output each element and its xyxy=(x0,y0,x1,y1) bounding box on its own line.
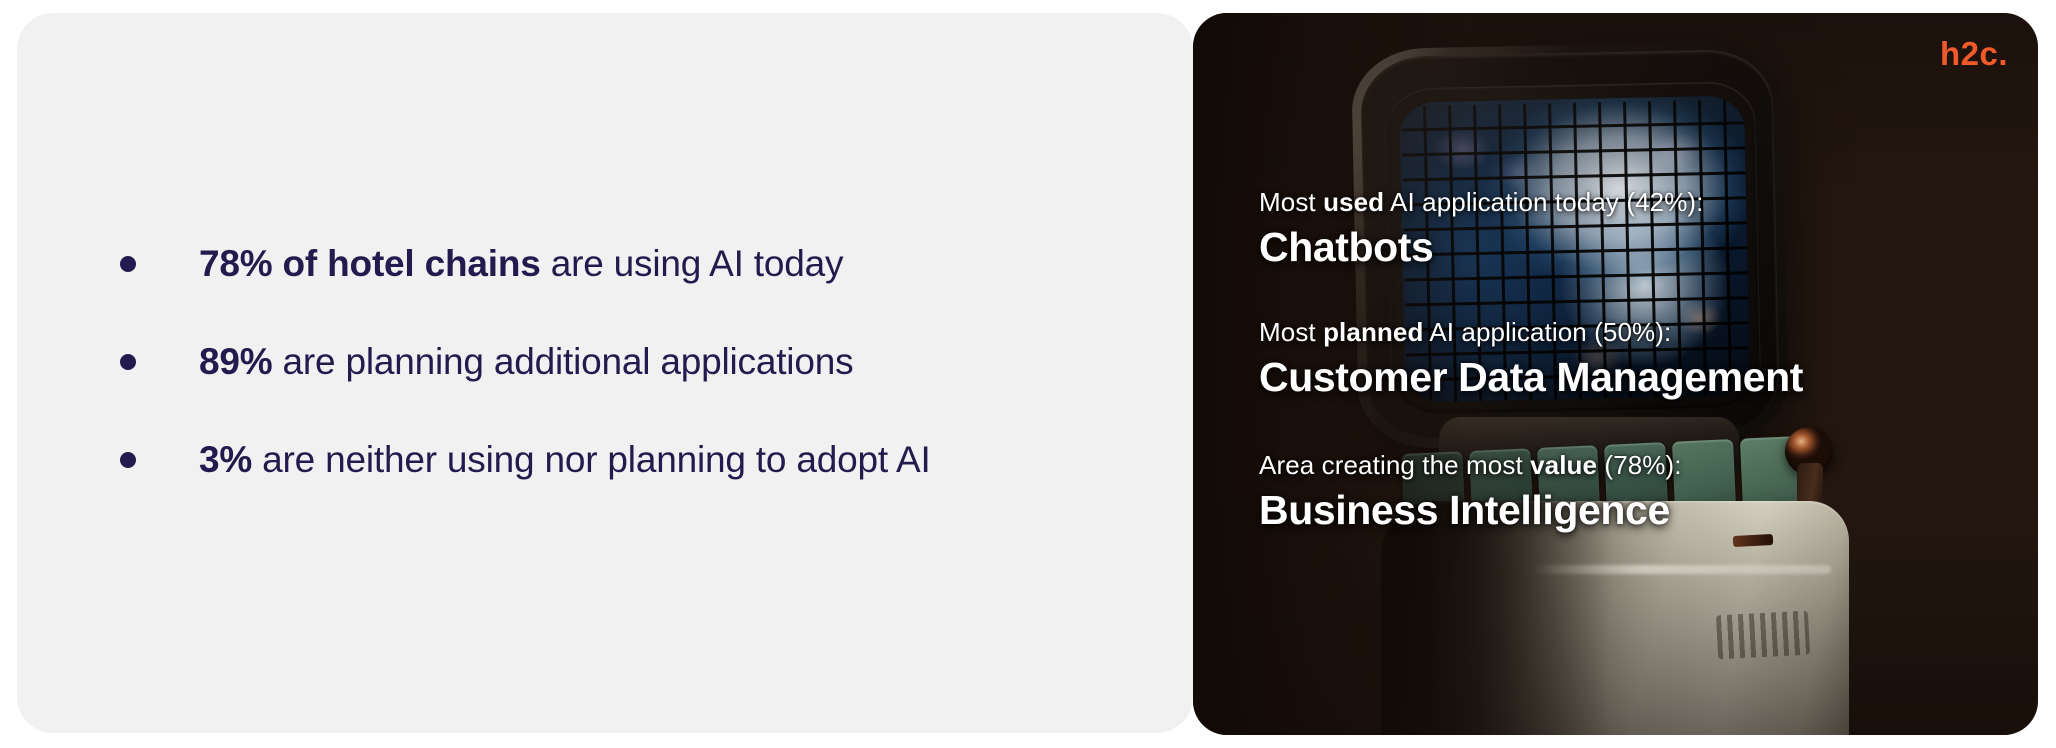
bullet-text: 89% are planning additional applications xyxy=(199,339,1140,385)
list-item: 89% are planning additional applications xyxy=(120,339,1140,385)
stat-block: Most used AI application today (42%): Ch… xyxy=(1259,186,1704,272)
stat-label: Area creating the most value (78%): xyxy=(1259,449,1682,481)
stat-label-post: AI application today (42%): xyxy=(1384,187,1703,217)
slide-canvas: 78% of hotel chains are using AI today 8… xyxy=(0,0,2056,748)
list-item: 78% of hotel chains are using AI today xyxy=(120,241,1140,287)
bullet-strong: 78% of hotel chains xyxy=(199,243,541,284)
stat-label: Most planned AI application (50%): xyxy=(1259,316,1803,348)
bullet-dot-icon xyxy=(120,256,136,272)
bullet-strong: 3% xyxy=(199,439,252,480)
stat-label-pre: Area creating the most xyxy=(1259,450,1530,480)
stat-value: Chatbots xyxy=(1259,222,1704,272)
bullet-rest: are planning additional applications xyxy=(272,341,853,382)
stat-label-bold: used xyxy=(1323,187,1384,217)
stat-block: Area creating the most value (78%): Busi… xyxy=(1259,449,1682,535)
stat-label-post: AI application (50%): xyxy=(1423,317,1671,347)
stat-label-bold: value xyxy=(1530,450,1597,480)
stat-label-post: (78%): xyxy=(1597,450,1682,480)
stat-label-pre: Most xyxy=(1259,317,1323,347)
stat-value: Business Intelligence xyxy=(1259,485,1682,535)
stat-value: Customer Data Management xyxy=(1259,352,1803,402)
stat-label-pre: Most xyxy=(1259,187,1323,217)
h2c-logo: h2c. xyxy=(1940,35,2008,73)
left-content-panel: 78% of hotel chains are using AI today 8… xyxy=(17,13,1193,733)
bullet-text: 3% are neither using nor planning to ado… xyxy=(199,437,1140,483)
bullet-rest: are neither using nor planning to adopt … xyxy=(252,439,930,480)
bullet-dot-icon xyxy=(120,354,136,370)
photo-panel: Most used AI application today (42%): Ch… xyxy=(1193,13,2038,735)
bullet-list: 78% of hotel chains are using AI today 8… xyxy=(120,241,1140,483)
stat-block: Most planned AI application (50%): Custo… xyxy=(1259,316,1803,402)
bullet-rest: are using AI today xyxy=(541,243,844,284)
bullet-strong: 89% xyxy=(199,341,272,382)
bullet-dot-icon xyxy=(120,452,136,468)
list-item: 3% are neither using nor planning to ado… xyxy=(120,437,1140,483)
stat-label: Most used AI application today (42%): xyxy=(1259,186,1704,218)
bullet-text: 78% of hotel chains are using AI today xyxy=(199,241,1140,287)
stat-label-bold: planned xyxy=(1323,317,1423,347)
photo-stat-overlay: Most used AI application today (42%): Ch… xyxy=(1193,13,2038,735)
